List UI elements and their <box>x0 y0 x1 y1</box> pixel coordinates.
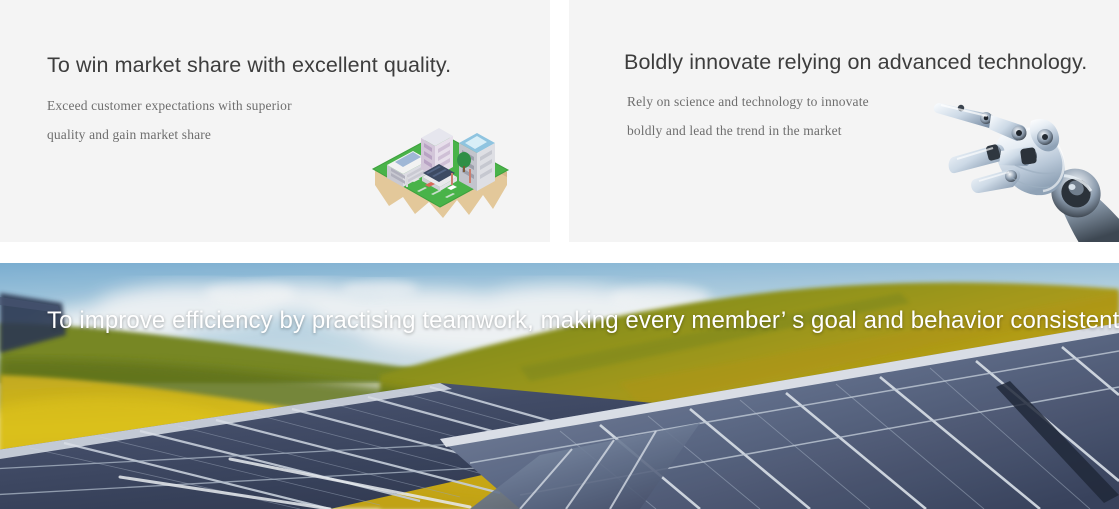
solar-farm-photo <box>0 263 1119 509</box>
card-quality-description: Exceed customer expectations with superi… <box>47 91 550 149</box>
card-quality-desc-line-1: Exceed customer expectations with superi… <box>47 91 550 120</box>
card-innovation-desc-line-2: boldly and lead the trend in the market <box>627 116 1119 145</box>
card-innovation-body: Boldly innovate relying on advanced tech… <box>569 0 1119 145</box>
card-quality-desc-line-2: quality and gain market share <box>47 120 550 149</box>
card-innovation[interactable]: Boldly innovate relying on advanced tech… <box>569 0 1119 242</box>
card-quality[interactable]: To win market share with excellent quali… <box>0 0 550 242</box>
card-quality-body: To win market share with excellent quali… <box>0 0 550 149</box>
card-quality-title: To win market share with excellent quali… <box>47 52 550 79</box>
card-innovation-desc-line-1: Rely on science and technology to innova… <box>627 87 1119 116</box>
teamwork-banner: To improve efficiency by practising team… <box>0 263 1119 509</box>
banner-headline: To improve efficiency by practising team… <box>47 307 1119 336</box>
card-innovation-description: Rely on science and technology to innova… <box>627 87 1119 145</box>
value-cards-row: To win market share with excellent quali… <box>0 0 1119 242</box>
card-innovation-title: Boldly innovate relying on advanced tech… <box>624 49 1119 76</box>
page-root: To win market share with excellent quali… <box>0 0 1119 509</box>
